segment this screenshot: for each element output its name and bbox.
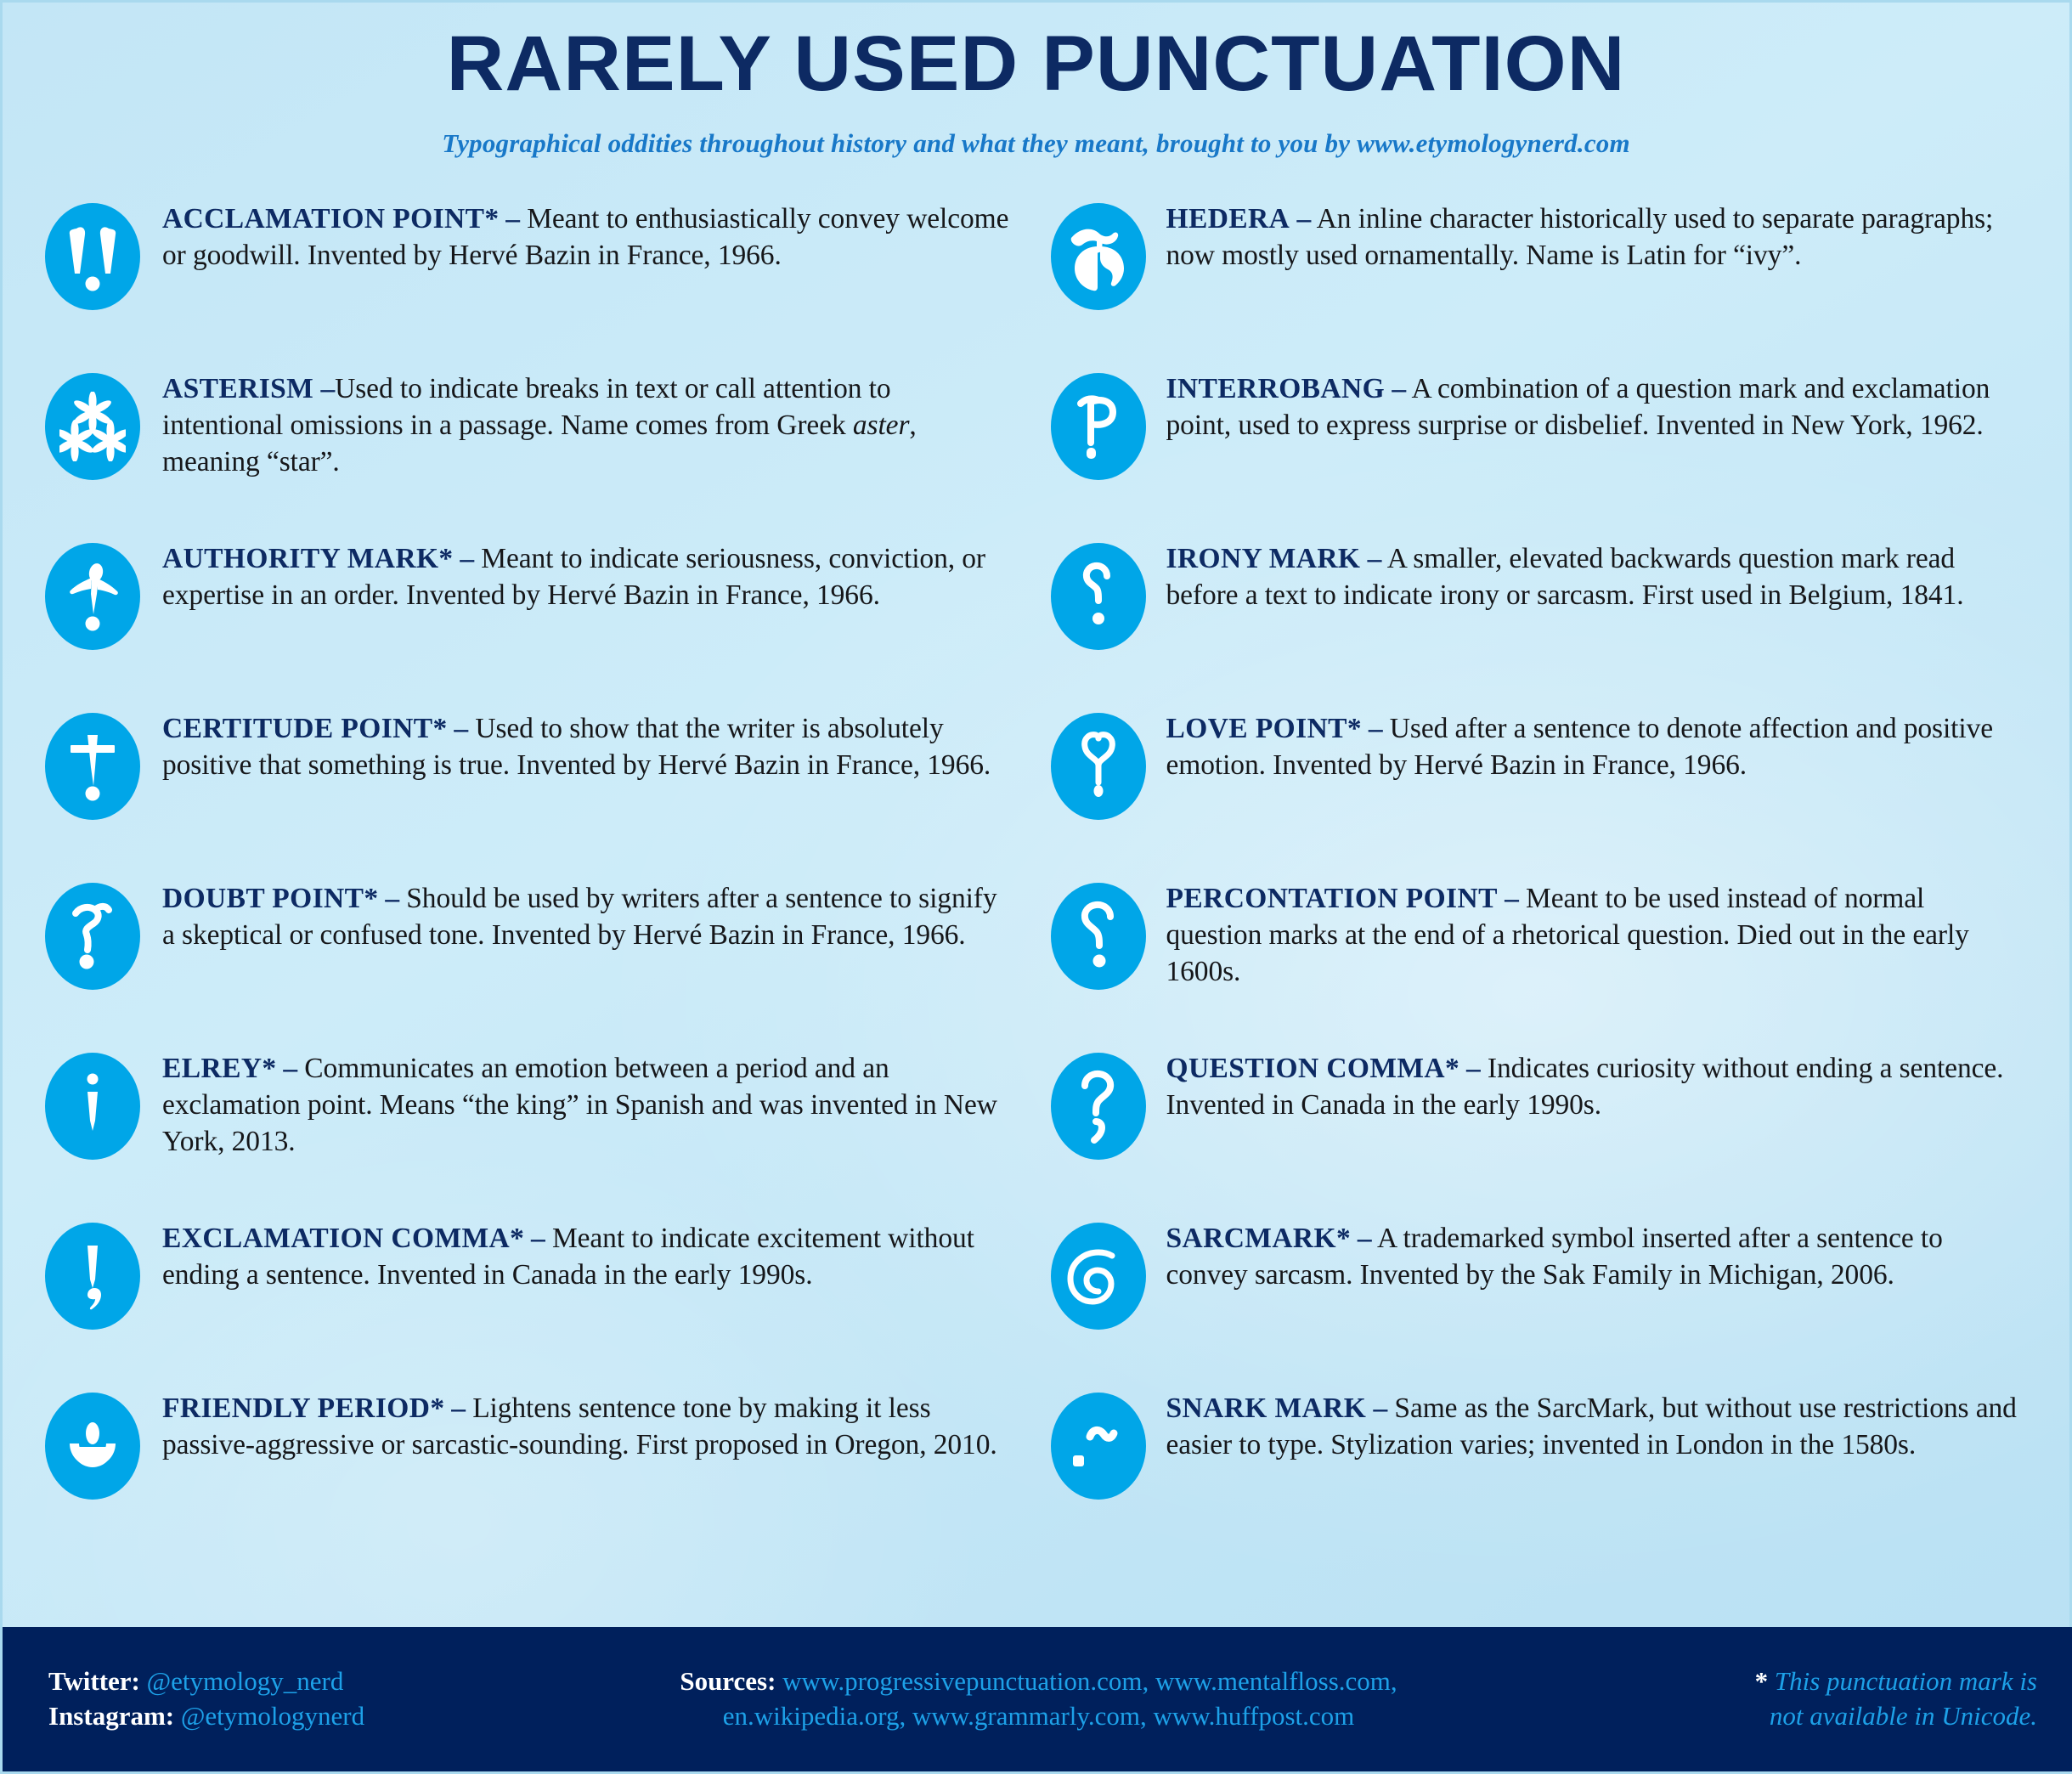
icon-wrap — [42, 699, 144, 823]
sources-label: Sources: — [680, 1666, 776, 1696]
dash: – — [1373, 1393, 1387, 1424]
term-star: * — [1445, 1053, 1459, 1084]
term-label: ACCLAMATION POINT — [162, 203, 484, 234]
term-star: * — [432, 713, 447, 744]
term-star: * — [430, 1393, 444, 1424]
term-label: PERCONTATION POINT — [1166, 883, 1498, 914]
icon-wrap — [42, 189, 144, 314]
entry-question-comma: QUESTION COMMA* – Indicates curiosity wi… — [1047, 1039, 2031, 1209]
icon-wrap — [42, 529, 144, 653]
percontation-point-icon — [1051, 883, 1146, 990]
term-label: DOUBT POINT — [162, 883, 364, 914]
sources-line-2[interactable]: en.wikipedia.org, www.grammarly.com, www… — [563, 1699, 1514, 1734]
dash: – — [283, 1053, 297, 1084]
entry-love-point: LOVE POINT* – Used after a sentence to d… — [1047, 699, 2031, 869]
sources-urls-1[interactable]: www.progressivepunctuation.com, www.ment… — [782, 1666, 1397, 1696]
footer-social: Twitter: @etymology_nerd Instagram: @ety… — [3, 1664, 563, 1734]
infographic-root: RARELY USED PUNCTUATION Typographical od… — [0, 0, 2072, 1774]
dash: – — [460, 543, 474, 574]
instagram-handle[interactable]: @etymologynerd — [181, 1701, 364, 1731]
entry-friendly-period: FRIENDLY PERIOD* – Lightens sentence ton… — [42, 1379, 1025, 1549]
acclamation-point-icon — [45, 203, 140, 310]
entry-text: LOVE POINT* – Used after a sentence to d… — [1149, 699, 2031, 784]
dash: – — [531, 1223, 545, 1254]
term-label: LOVE POINT — [1166, 713, 1347, 744]
entry-text: ASTERISM –Used to indicate breaks in tex… — [144, 359, 1025, 481]
entry-doubt-point: DOUBT POINT* – Should be used by writers… — [42, 869, 1025, 1039]
dash: – — [1466, 1053, 1481, 1084]
entry-text: AUTHORITY MARK* – Meant to indicate seri… — [144, 529, 1025, 614]
term-label: EXCLAMATION COMMA — [162, 1223, 510, 1254]
term-label: SNARK MARK — [1166, 1393, 1367, 1424]
entry-exclamation-comma: EXCLAMATION COMMA* – Meant to indicate e… — [42, 1209, 1025, 1379]
term-label: QUESTION COMMA — [1166, 1053, 1446, 1084]
term-star: * — [1347, 713, 1362, 744]
note-line-2: not available in Unicode. — [1548, 1699, 2037, 1734]
entry-percontation-point: PERCONTATION POINT – Meant to be used in… — [1047, 869, 2031, 1039]
entry-sarcmark: SARCMARK* – A trademarked symbol inserte… — [1047, 1209, 2031, 1379]
term-star: * — [484, 203, 499, 234]
entry-interrobang: INTERROBANG – A combination of a questio… — [1047, 359, 2031, 529]
dash: – — [1369, 713, 1383, 744]
question-comma-icon — [1051, 1053, 1146, 1160]
sarcmark-icon — [1051, 1223, 1146, 1330]
certitude-point-icon — [45, 713, 140, 820]
entry-hedera: HEDERA – An inline character historicall… — [1047, 189, 2031, 359]
footer-sources: Sources: www.progressivepunctuation.com,… — [563, 1664, 1548, 1734]
entry-irony-mark: IRONY MARK – A smaller, elevated backwar… — [1047, 529, 2031, 699]
icon-wrap — [1047, 1039, 1149, 1163]
instagram-label: Instagram: — [48, 1701, 174, 1731]
term-label: ELREY — [162, 1053, 262, 1084]
twitter-handle[interactable]: @etymology_nerd — [147, 1666, 344, 1696]
icon-wrap — [42, 869, 144, 993]
sources-line-1: Sources: www.progressivepunctuation.com,… — [563, 1664, 1514, 1699]
entry-text: ELREY* – Communicates an emotion between… — [144, 1039, 1025, 1161]
entry-text: PERCONTATION POINT – Meant to be used in… — [1149, 869, 2031, 991]
entry-elrey: ELREY* – Communicates an emotion between… — [42, 1039, 1025, 1209]
dash: – — [320, 373, 335, 404]
icon-wrap — [42, 1209, 144, 1333]
entry-text: EXCLAMATION COMMA* – Meant to indicate e… — [144, 1209, 1025, 1294]
icon-wrap — [1047, 359, 1149, 483]
hedera-icon — [1051, 203, 1146, 310]
note-star: * — [1755, 1666, 1769, 1696]
entries-columns: ACCLAMATION POINT* – Meant to enthusiast… — [3, 159, 2069, 1549]
right-column: HEDERA – An inline character historicall… — [1047, 189, 2031, 1549]
entry-text: HEDERA – An inline character historicall… — [1149, 189, 2031, 274]
entry-certitude-point: CERTITUDE POINT* – Used to show that the… — [42, 699, 1025, 869]
term-label: IRONY MARK — [1166, 543, 1361, 574]
term-label: CERTITUDE POINT — [162, 713, 432, 744]
icon-wrap — [1047, 189, 1149, 314]
dash: – — [1358, 1223, 1372, 1254]
entry-text: IRONY MARK – A smaller, elevated backwar… — [1149, 529, 2031, 614]
interrobang-icon — [1051, 373, 1146, 480]
dash: – — [1392, 373, 1406, 404]
footer-note: * This punctuation mark is not available… — [1548, 1664, 2072, 1734]
icon-wrap — [42, 359, 144, 483]
icon-wrap — [1047, 529, 1149, 653]
entry-text: FRIENDLY PERIOD* – Lightens sentence ton… — [144, 1379, 1025, 1464]
dash: – — [1368, 543, 1382, 574]
instagram-line: Instagram: @etymologynerd — [48, 1699, 563, 1734]
dash: – — [451, 1393, 466, 1424]
note-line-1: * This punctuation mark is — [1548, 1664, 2037, 1699]
dash: – — [454, 713, 468, 744]
page-subtitle: Typographical oddities throughout histor… — [3, 128, 2069, 159]
friendly-period-icon — [45, 1393, 140, 1500]
dash: – — [1505, 883, 1519, 914]
icon-wrap — [42, 1039, 144, 1163]
icon-wrap — [1047, 869, 1149, 993]
dash: – — [505, 203, 520, 234]
entry-text: DOUBT POINT* – Should be used by writers… — [144, 869, 1025, 954]
entry-authority-mark: AUTHORITY MARK* – Meant to indicate seri… — [42, 529, 1025, 699]
page-title: RARELY USED PUNCTUATION — [0, 25, 2072, 103]
term-star: * — [510, 1223, 524, 1254]
header: RARELY USED PUNCTUATION Typographical od… — [3, 3, 2069, 159]
twitter-label: Twitter: — [48, 1666, 140, 1696]
term-star: * — [1336, 1223, 1351, 1254]
entry-text: SARCMARK* – A trademarked symbol inserte… — [1149, 1209, 2031, 1294]
term-label: ASTERISM — [162, 373, 313, 404]
snark-mark-icon — [1051, 1393, 1146, 1500]
term-label: HEDERA — [1166, 203, 1290, 234]
entry-text: SNARK MARK – Same as the SarcMark, but w… — [1149, 1379, 2031, 1464]
doubt-point-icon — [45, 883, 140, 990]
twitter-line: Twitter: @etymology_nerd — [48, 1664, 563, 1699]
authority-mark-icon — [45, 543, 140, 650]
term-label: AUTHORITY MARK — [162, 543, 438, 574]
term-label: INTERROBANG — [1166, 373, 1386, 404]
icon-wrap — [42, 1379, 144, 1503]
term-star: * — [262, 1053, 276, 1084]
exclamation-comma-icon — [45, 1223, 140, 1330]
term-label: FRIENDLY PERIOD — [162, 1393, 430, 1424]
icon-wrap — [1047, 1209, 1149, 1333]
love-point-icon — [1051, 713, 1146, 820]
entry-text: ACCLAMATION POINT* – Meant to enthusiast… — [144, 189, 1025, 274]
dash: – — [1297, 203, 1312, 234]
left-column: ACCLAMATION POINT* – Meant to enthusiast… — [42, 189, 1025, 1549]
entry-description-italic: aster — [853, 410, 910, 441]
note-text-1: This punctuation mark is — [1775, 1666, 2037, 1696]
entry-acclamation-point: ACCLAMATION POINT* – Meant to enthusiast… — [42, 189, 1025, 359]
term-star: * — [364, 883, 378, 914]
entry-snark-mark: SNARK MARK – Same as the SarcMark, but w… — [1047, 1379, 2031, 1549]
elrey-icon — [45, 1053, 140, 1160]
entry-asterism: ASTERISM –Used to indicate breaks in tex… — [42, 359, 1025, 529]
icon-wrap — [1047, 1379, 1149, 1503]
term-label: SARCMARK — [1166, 1223, 1336, 1254]
term-star: * — [438, 543, 453, 574]
irony-mark-icon — [1051, 543, 1146, 650]
entry-description: An inline character historically used to… — [1166, 203, 1994, 271]
icon-wrap — [1047, 699, 1149, 823]
asterism-icon — [45, 373, 140, 480]
entry-text: QUESTION COMMA* – Indicates curiosity wi… — [1149, 1039, 2031, 1124]
footer: Twitter: @etymology_nerd Instagram: @ety… — [3, 1627, 2072, 1771]
entry-text: INTERROBANG – A combination of a questio… — [1149, 359, 2031, 444]
dash: – — [385, 883, 399, 914]
entry-text: CERTITUDE POINT* – Used to show that the… — [144, 699, 1025, 784]
